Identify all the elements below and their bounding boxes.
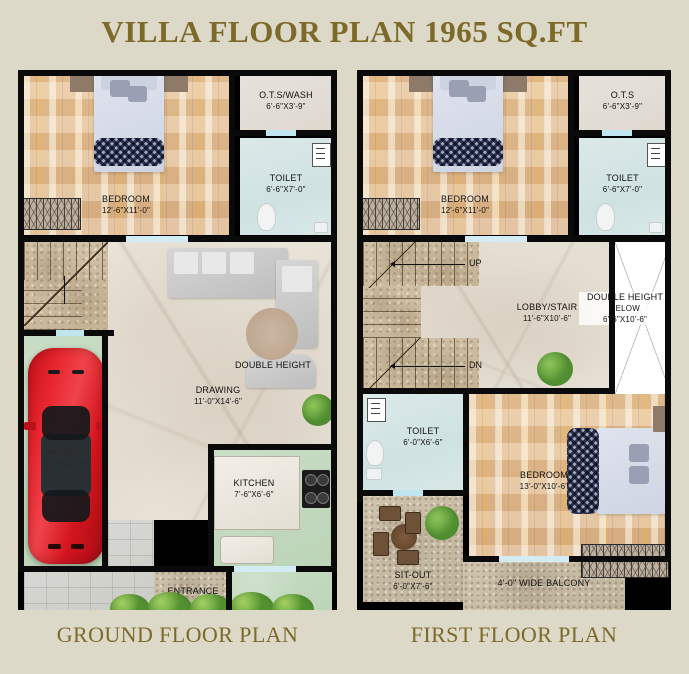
gf-toilet-label: TOILET 6'-6"X7'-0" [240, 173, 332, 195]
ff-bedroom-top-dim: 12'-6"X11'-0" [362, 205, 568, 216]
ff-bedroom-lower-name: BEDROOM [520, 470, 568, 480]
gf-drawing-dim: 11'-0"X14'-6" [148, 396, 288, 407]
ff-ots-name: O.T.S [611, 90, 635, 100]
ff-toilet-top-name: TOILET [606, 173, 639, 183]
ff-bedroom-top-name: BEDROOM [441, 194, 489, 204]
gf-bedroom-label: BEDROOM 12'-6"X11'-0" [23, 194, 229, 216]
ff-toilet-top-wc [596, 203, 615, 231]
ff-toilet-lower-dim: 6'-0"X6'-6" [373, 437, 473, 448]
gf-double-height-label: DOUBLE HEIGHT [208, 360, 337, 371]
gf-car-windshield [42, 406, 90, 440]
ff-bedroom-nightstand-left [409, 76, 435, 92]
gf-parking-label: PARKING 8'-0"X14'-0" [24, 448, 108, 470]
ff-balcony-text: 4'-0" WIDE BALCONY [497, 578, 590, 588]
ff-wall-right-mid [665, 242, 671, 394]
gf-bed-pillow-b [128, 86, 147, 102]
gf-wall-outer-top [18, 70, 337, 76]
ff-ots-dim: 6'-6"X3'-9" [579, 101, 666, 112]
gf-drawing-name: DRAWING [196, 385, 241, 395]
ff-wall-outer-top [357, 70, 671, 76]
ff-wall-bedroom-top-right [568, 70, 574, 242]
gf-kitchen-dim: 7'-6"X6'-6" [208, 489, 300, 500]
gf-wall-outer-right-top [331, 70, 337, 242]
gf-parking-dim: 8'-0"X14'-0" [24, 459, 108, 470]
ff-wall-void-left [609, 242, 615, 394]
gf-stair-direction-line [64, 276, 65, 304]
gf-bed-pillow-a [110, 80, 130, 97]
ff-bed-top-throw [433, 138, 503, 166]
ff-wall-right-lower [665, 394, 671, 562]
gf-window-kitchen-bottom [234, 566, 296, 572]
gf-wall-left-lower [18, 242, 24, 572]
ff-double-height-dim: 6'-6"X10'-6" [579, 314, 671, 325]
ff-bed-top-pillow-b [467, 86, 486, 102]
ff-window-bedroom-lower [499, 556, 569, 562]
gf-wall-bottom [18, 566, 232, 572]
ff-bed-lower-pillow-a [629, 444, 649, 462]
ff-double-height-line2: BELOW [579, 303, 671, 314]
gf-drawing-label: DRAWING 11'-0"X14'-6" [148, 385, 288, 407]
gf-toilet-basin [314, 222, 328, 233]
ff-bedroom-top-label: BEDROOM 12'-6"X11'-0" [362, 194, 568, 216]
gf-wall-kitchen-left [208, 444, 214, 572]
ground-floor-plan[interactable]: BEDROOM 12'-6"X11'-0" O.T.S/WASH 6'-6"X3… [18, 70, 337, 610]
gf-double-height-name: DOUBLE HEIGHT [235, 360, 311, 370]
gf-ots-wash-dim: 6'-6"X3'-9" [240, 101, 332, 112]
gf-kitchen-label: KITCHEN 7'-6"X6'-6" [208, 478, 300, 500]
ff-double-height-label: DOUBLE HEIGHT BELOW 6'-6"X10'-6" [579, 292, 671, 325]
ff-wall-outer-right-top [665, 70, 671, 242]
ground-floor-caption: GROUND FLOOR PLAN [18, 622, 337, 648]
ff-lobby-plant [537, 352, 573, 386]
ff-wall-outer-left-top [357, 70, 363, 242]
gf-toilet-electrical-icon [312, 143, 331, 167]
gf-wall-right-lower [331, 242, 337, 572]
gf-toilet-wc [257, 203, 276, 231]
gf-kitchen-stove [302, 470, 330, 508]
ff-up-line [395, 264, 465, 265]
gf-kitchen-sink [220, 536, 274, 564]
gf-center-rug [246, 308, 298, 360]
gf-door-stair [56, 330, 84, 336]
ff-toilet-top-dim: 6'-6"X7'-0" [579, 184, 666, 195]
ff-toilet-top-basin [649, 222, 663, 233]
gf-kitchen-name: KITCHEN [234, 478, 275, 488]
ff-door-ots-toilet [602, 130, 632, 136]
ff-wall-toilet-lower-right [463, 394, 469, 496]
ff-balcony-label: 4'-0" WIDE BALCONY [463, 578, 625, 589]
ff-sitout-plant [425, 506, 459, 540]
ff-door-toilet-lower [393, 490, 423, 496]
gf-bedroom-nightstand-right [162, 76, 188, 92]
gf-wall-kitchen-top [208, 444, 337, 450]
gf-sofa-cushion-a [174, 252, 198, 274]
ff-up-tag: UP [469, 258, 482, 268]
ff-toilet-lower-basin [366, 468, 382, 480]
gf-wall-bedroom-right [229, 70, 235, 242]
ff-sitout-chair-3 [373, 532, 389, 556]
ff-toilet-top-label: TOILET 6'-6"X7'-0" [579, 173, 666, 195]
gf-car-mirror-left [24, 422, 36, 430]
gf-ots-wash-name: O.T.S/WASH [259, 90, 313, 100]
gf-wall-outer-left-top [18, 70, 24, 242]
ff-sitout-label: SIT-OUT 6'-0"X7'-6" [363, 570, 463, 592]
gf-stove-burner-2 [317, 474, 329, 486]
ff-toilet-top-electrical-icon [647, 143, 666, 167]
gf-ots-wash-label: O.T.S/WASH 6'-6"X3'-9" [240, 90, 332, 112]
gf-toilet-name: TOILET [270, 173, 303, 183]
gf-bedroom-name: BEDROOM [102, 194, 150, 204]
gf-door-ots-toilet [266, 130, 296, 136]
ff-bedroom-nightstand-right [501, 76, 527, 92]
ff-wall-left-mid [357, 242, 363, 394]
first-floor-caption: FIRST FLOOR PLAN [357, 622, 671, 648]
gf-wall-entrance-right [226, 566, 232, 610]
ff-ots-label: O.T.S 6'-6"X3'-9" [579, 90, 666, 112]
ff-toilet-lower-label: TOILET 6'-0"X6'-6" [373, 426, 473, 448]
gf-stove-burner-1 [305, 474, 317, 486]
gf-stove-burner-4 [317, 492, 329, 504]
gf-wall-parking-right [102, 336, 108, 572]
ff-toilet-lower-name: TOILET [407, 426, 440, 436]
ff-dn-tag: DN [469, 360, 482, 370]
gf-toilet-dim: 6'-6"X7'-0" [240, 184, 332, 195]
ff-sitout-chair-2 [405, 512, 421, 534]
first-floor-plan[interactable]: BEDROOM 12'-6"X11'-0" O.T.S 6'-6"X3'-9" … [357, 70, 671, 610]
ff-sitout-chair-4 [397, 550, 419, 565]
ff-double-height-line1: DOUBLE HEIGHT [587, 292, 663, 302]
page-title: VILLA FLOOR PLAN 1965 SQ.FT [0, 14, 689, 50]
ff-wall-left-lower [357, 394, 363, 502]
ff-sitout-dim: 6'-0"X7'-6" [363, 581, 463, 592]
gf-stair-diagonal [24, 242, 108, 326]
gf-bedroom-dim: 12'-6"X11'-0" [23, 205, 229, 216]
ff-up-arrow-head [390, 261, 395, 267]
ff-bedroom-lower-label: BEDROOM 13'-0"X10'-6" [469, 470, 619, 492]
ff-sitout-name: SIT-OUT [395, 570, 432, 580]
gf-car-rear-glass [42, 490, 90, 522]
ff-bed-top-pillow-a [449, 80, 469, 97]
gf-sofa-side-cushion [282, 266, 312, 292]
ff-sitout-chair-1 [379, 506, 401, 521]
ff-dn-line [395, 366, 465, 367]
gf-bedroom-nightstand-left [70, 76, 96, 92]
ff-lobby-name: LOBBY/STAIR [517, 302, 578, 312]
ff-bedroom-lower-dim: 13'-0"X10'-6" [469, 481, 619, 492]
ff-stair-mid-treads [363, 286, 421, 338]
ff-bed-lower-pillow-b [629, 466, 649, 484]
ff-toilet-lower-electrical-icon [367, 398, 386, 422]
gf-bed-throw [94, 138, 164, 166]
gf-sofa-cushion-b [202, 252, 226, 274]
gf-plant-corner [302, 394, 334, 426]
ff-dn-arrow-head [390, 363, 395, 369]
gf-sofa-cushion-c [230, 252, 254, 274]
gf-stove-burner-3 [305, 492, 317, 504]
gf-parking-name: PARKING [45, 448, 86, 458]
